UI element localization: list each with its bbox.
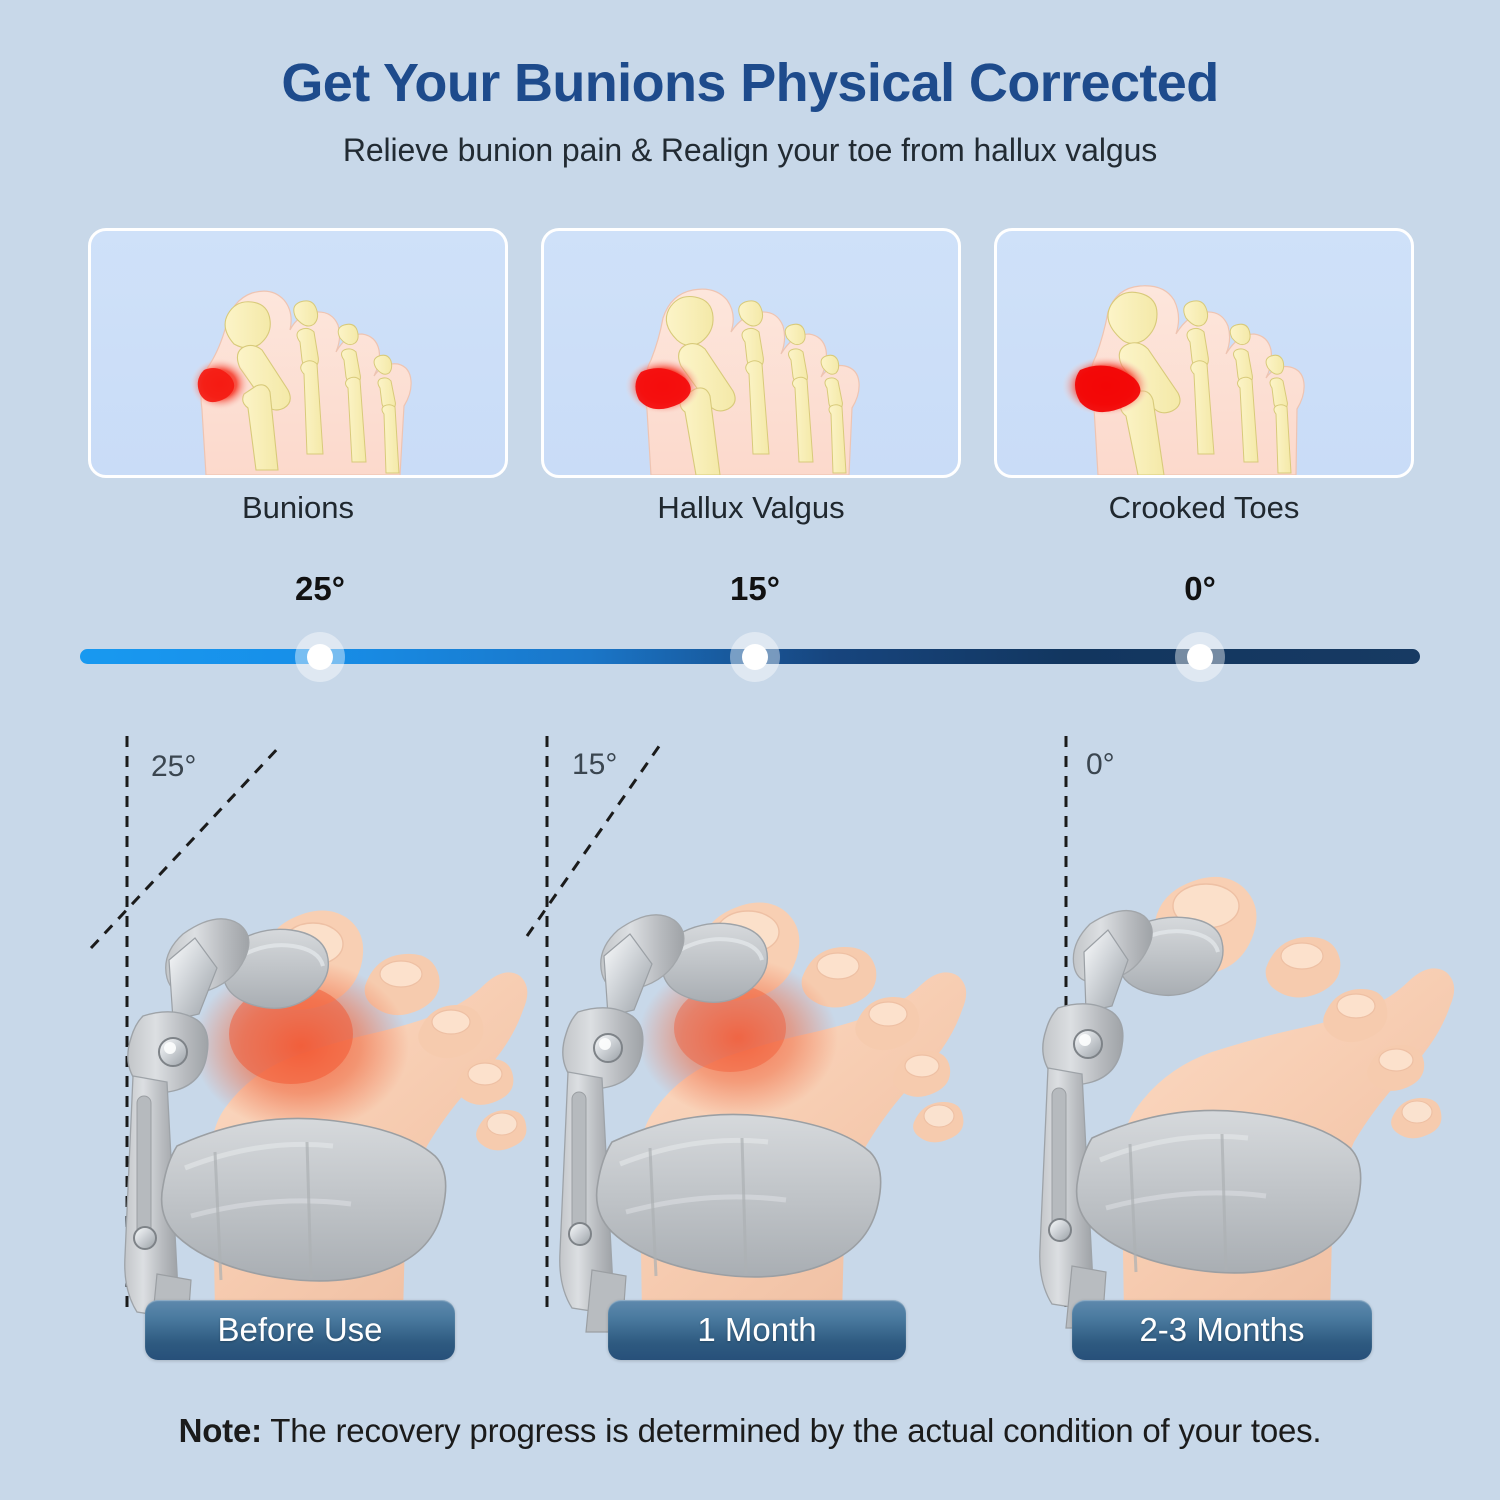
condition-card-crooked-toes [994, 228, 1414, 478]
condition-label-hallux-valgus: Hallux Valgus [541, 490, 961, 526]
progress-photo-before-use: 25° [65, 716, 535, 1336]
progress-photos-row: 25° [0, 716, 1500, 1336]
condition-card-hallux-valgus [541, 228, 961, 478]
correction-progress-slider[interactable] [80, 649, 1420, 664]
page-subtitle: Relieve bunion pain & Realign your toe f… [0, 110, 1500, 169]
note-text: Note: The recovery progress is determine… [0, 1412, 1500, 1450]
slider-knob-0deg[interactable] [1187, 644, 1213, 670]
condition-cards-row [88, 228, 1414, 478]
progress-photo-2-3-months: 0° [990, 716, 1460, 1336]
time-label-1-month[interactable]: 1 Month [608, 1300, 906, 1360]
time-label-2-3-months[interactable]: 2-3 Months [1072, 1300, 1372, 1360]
condition-label-bunions: Bunions [88, 490, 508, 526]
infographic-header: Get Your Bunions Physical Corrected Reli… [0, 0, 1500, 169]
note-prefix: Note: [179, 1412, 262, 1449]
svg-text:0°: 0° [1086, 748, 1115, 781]
slider-label-15deg: 15° [730, 570, 780, 608]
progress-photo-1-month: 15° [522, 716, 992, 1336]
time-labels-row: Before Use 1 Month 2-3 Months [0, 1300, 1500, 1362]
svg-text:15°: 15° [572, 748, 617, 781]
condition-card-bunions [88, 228, 508, 478]
condition-label-crooked-toes: Crooked Toes [994, 490, 1414, 526]
slider-label-0deg: 0° [1184, 570, 1216, 608]
slider-knob-15deg[interactable] [742, 644, 768, 670]
time-label-before-use[interactable]: Before Use [145, 1300, 455, 1360]
condition-labels-row: Bunions Hallux Valgus Crooked Toes [88, 490, 1414, 526]
page-title: Get Your Bunions Physical Corrected [0, 0, 1500, 110]
slider-value-labels: 25° 15° 0° [0, 570, 1500, 614]
svg-text:25°: 25° [151, 750, 196, 783]
slider-label-25deg: 25° [295, 570, 345, 608]
slider-knob-25deg[interactable] [307, 644, 333, 670]
note-body: The recovery progress is determined by t… [262, 1412, 1322, 1449]
